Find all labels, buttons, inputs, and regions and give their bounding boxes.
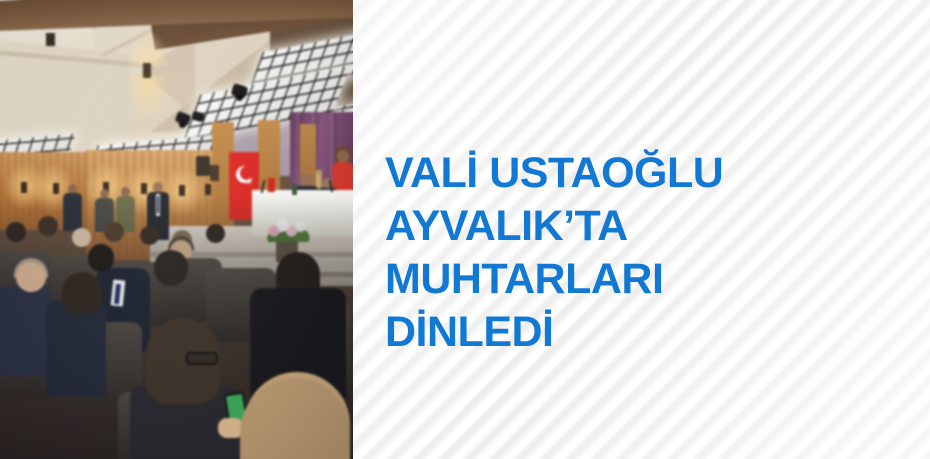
headline-line-3: MUHTARLARI xyxy=(385,253,914,306)
headline-line-1: VALİ USTAOĞLU xyxy=(385,147,914,200)
page-title: VALİ USTAOĞLU AYVALIK’TA MUHTARLARI DİNL… xyxy=(385,147,914,359)
headline-line-4: DİNLEDİ xyxy=(385,306,914,359)
news-card: VALİ USTAOĞLU AYVALIK’TA MUHTARLARI DİNL… xyxy=(0,0,930,459)
news-photo xyxy=(0,0,353,459)
headline-line-2: AYVALIK’TA xyxy=(385,200,914,253)
photo-vignette xyxy=(0,0,353,459)
headline-panel: VALİ USTAOĞLU AYVALIK’TA MUHTARLARI DİNL… xyxy=(353,0,930,459)
